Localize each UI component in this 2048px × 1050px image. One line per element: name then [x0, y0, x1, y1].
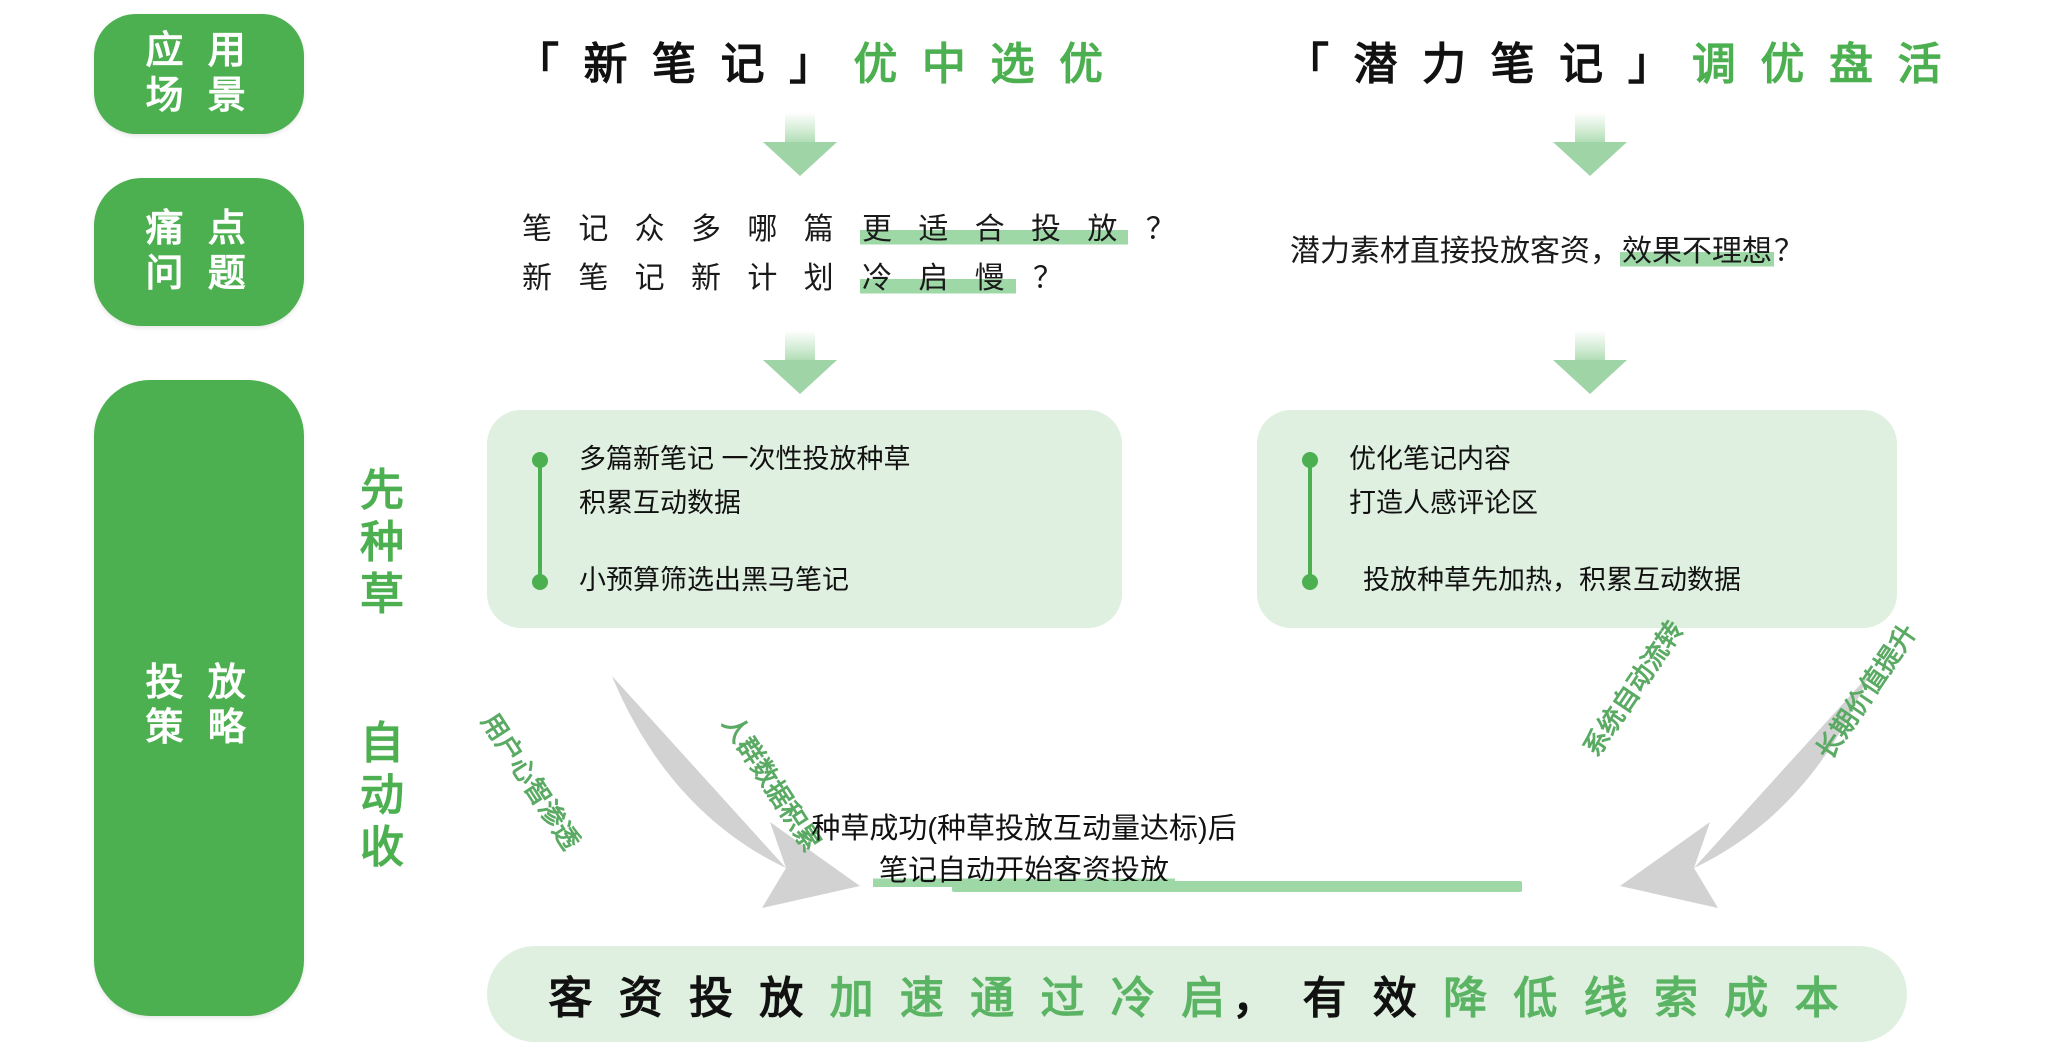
- strategy-item-line: 小预算筛选出黑马笔记: [579, 559, 1104, 603]
- pain-text-potential-notes: 潜力素材直接投放客资，效果不理想？: [1290, 228, 1804, 277]
- infographic-canvas: 应 用 场 景 痛 点 问 题 投 放 策 略 先 种 草 自 动 收 「 新 …: [0, 0, 2048, 1050]
- sidebar-item-label-line1: 应 用: [145, 29, 252, 74]
- conclusion-banner-text: 客 资 投 放 加 速 通 过 冷 启， 有 效 降 低 线 索 成 本: [548, 962, 1845, 1026]
- strategy-card-body: 多篇新笔记 一次性投放种草 积累互动数据 小预算筛选出黑马笔记: [579, 438, 1104, 603]
- stage-label-seeding: 先 种 草: [352, 465, 412, 621]
- timeline-dot-icon: [532, 574, 548, 590]
- strategy-item-line: 优化笔记内容: [1349, 438, 1879, 482]
- sidebar-item-application-scenario[interactable]: 应 用 场 景: [94, 14, 304, 134]
- pain-text-new-notes: 笔 记 众 多 哪 篇 更 适 合 投 放 ？ 新 笔 记 新 计 划 冷 启 …: [522, 206, 1185, 303]
- strategy-card-new-notes: 多篇新笔记 一次性投放种草 积累互动数据 小预算筛选出黑马笔记: [487, 410, 1122, 628]
- pain-plain: 新 笔 记 新 计 划: [522, 262, 860, 295]
- conclusion-banner: 客 资 投 放 加 速 通 过 冷 启， 有 效 降 低 线 索 成 本: [487, 946, 1907, 1042]
- pain-plain: 笔 记 众 多 哪 篇: [522, 213, 860, 246]
- timeline-connector: [532, 452, 548, 590]
- banner-segment-3: ， 有 效: [1232, 974, 1443, 1023]
- center-note-underline: [952, 881, 1522, 892]
- pain-highlight: 冷 启 慢: [860, 262, 1016, 295]
- pain-line: 笔 记 众 多 哪 篇 更 适 合 投 放 ？: [522, 206, 1185, 255]
- curved-arrow-left-icon: [590, 672, 910, 912]
- sidebar-item-label-line1: 痛 点: [145, 207, 252, 252]
- pain-tail: ？: [1774, 235, 1804, 268]
- column-header-accent: 调 优 盘 活: [1692, 40, 1948, 89]
- strategy-item-line: 积累互动数据: [579, 482, 1104, 526]
- pain-tail: ？: [1128, 213, 1184, 246]
- column-header-potential-notes: 「 潜 力 笔 记 」 调 优 盘 活: [1285, 28, 1948, 92]
- timeline-dot-icon: [532, 452, 548, 468]
- pain-plain: 潜力素材直接投放客资，: [1290, 235, 1620, 268]
- banner-segment-4: 降 低 线 索 成 本: [1443, 974, 1846, 1023]
- timeline-dot-icon: [1302, 452, 1318, 468]
- pain-highlight: 更 适 合 投 放: [860, 213, 1128, 246]
- pain-highlight: 效果不理想: [1620, 235, 1774, 268]
- sidebar-item-label-line2: 问 题: [145, 252, 252, 297]
- strategy-card-potential-notes: 优化笔记内容 打造人感评论区 投放种草先加热，积累互动数据: [1257, 410, 1897, 628]
- strategy-item-line: 投放种草先加热，积累互动数据: [1349, 559, 1879, 603]
- strategy-card-body: 优化笔记内容 打造人感评论区 投放种草先加热，积累互动数据: [1349, 438, 1879, 603]
- strategy-item-line: 打造人感评论区: [1349, 482, 1879, 526]
- sidebar-item-pain-points[interactable]: 痛 点 问 题: [94, 178, 304, 326]
- pain-line: 新 笔 记 新 计 划 冷 启 慢 ？: [522, 255, 1185, 304]
- timeline-connector: [1302, 452, 1318, 590]
- pain-line: 潜力素材直接投放客资，效果不理想？: [1290, 228, 1804, 277]
- sidebar-item-placement-strategy[interactable]: 投 放 策 略: [94, 380, 304, 1016]
- column-header-quoted: 「 潜 力 笔 记 」: [1285, 40, 1678, 89]
- column-header-accent: 优 中 选 优: [853, 40, 1109, 89]
- strategy-item-line: 多篇新笔记 一次性投放种草: [579, 438, 1104, 482]
- pain-tail: ？: [1016, 262, 1072, 295]
- sidebar-item-label-line1: 投 放: [145, 661, 252, 706]
- column-header-quoted: 「 新 笔 记 」: [515, 40, 839, 89]
- sidebar-item-label-line2: 策 略: [145, 706, 252, 751]
- stage-label-auto-harvest: 自 动 收: [352, 718, 412, 874]
- banner-segment-2: 加 速 通 过 冷 启: [830, 974, 1233, 1023]
- banner-segment-1: 客 资 投 放: [548, 974, 829, 1023]
- timeline-dot-icon: [1302, 574, 1318, 590]
- sidebar-item-label-line2: 场 景: [145, 74, 252, 119]
- column-header-new-notes: 「 新 笔 记 」 优 中 选 优: [515, 28, 1109, 92]
- sidebar-item-label-wrap: 投 放 策 略: [145, 661, 252, 751]
- arrow-annotation-user-mind-penetration: 用户心智渗透: [474, 705, 590, 856]
